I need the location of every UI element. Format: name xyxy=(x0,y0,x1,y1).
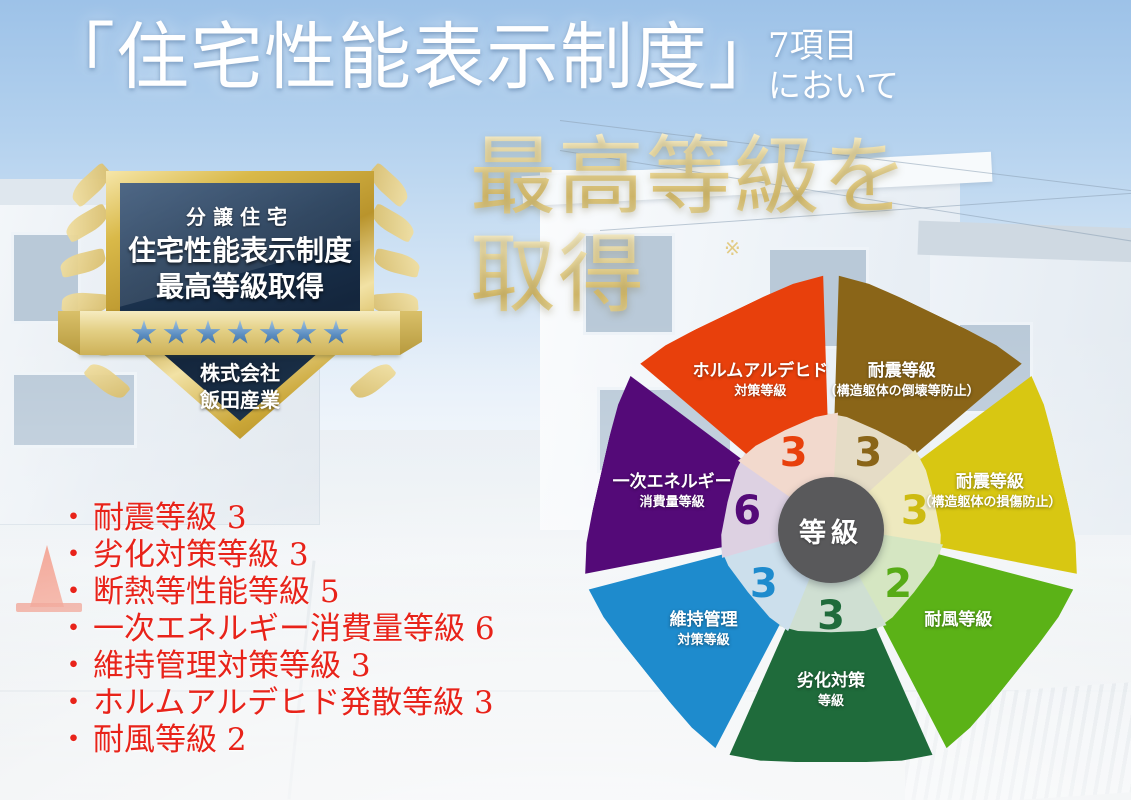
headline-side: 7項目 において xyxy=(768,26,938,106)
wheel-segment-label-main: 一次エネルギー xyxy=(613,472,732,491)
badge-title-line2: 最高等級取得 xyxy=(110,265,370,305)
badge-company-line1: 株式会社 xyxy=(110,361,370,388)
feature-item: ・耐風等級 2 xyxy=(58,722,578,759)
gold-headline-note: ※ xyxy=(724,236,741,261)
wheel-segment-grade: 3 xyxy=(840,433,896,473)
wheel-segment-label-main: 維持管理 xyxy=(670,610,738,629)
star-icon xyxy=(291,320,317,346)
wheel-center-label: 等級 xyxy=(799,511,863,550)
wheel-segment-grade: 6 xyxy=(719,491,775,531)
star-icon xyxy=(259,320,285,346)
wheel-segment-label-main: 劣化対策 xyxy=(797,671,865,690)
wheel-center-hub: 等級 xyxy=(778,477,884,583)
feature-item-label: 一次エネルギー消費量等級 6 xyxy=(93,611,495,647)
feature-item-label: ホルムアルデヒド発散等級 3 xyxy=(93,685,494,721)
wheel-segment-label-sub: 対策等級 xyxy=(594,631,814,649)
feature-item-label: 維持管理対策等級 3 xyxy=(93,648,371,684)
wheel-segment-label: 劣化対策等級 xyxy=(721,669,941,710)
badge-title-line1: 住宅性能表示制度 xyxy=(110,229,370,269)
feature-item-label: 耐風等級 2 xyxy=(93,722,247,758)
feature-list: ・耐震等級 3・劣化対策等級 3・断熱等性能等級 5・一次エネルギー消費量等級 … xyxy=(58,500,578,759)
star-icon xyxy=(323,320,349,346)
bullet-icon: ・ xyxy=(58,722,89,758)
star-icon xyxy=(131,320,157,346)
feature-item: ・耐震等級 3 xyxy=(58,500,578,537)
bullet-icon: ・ xyxy=(58,611,89,647)
badge-company: 株式会社 飯田産業 xyxy=(110,361,370,415)
wheel-segment-label-main: 耐震等級 xyxy=(868,361,936,380)
star-icon xyxy=(195,320,221,346)
badge-company-line2: 飯田産業 xyxy=(110,388,370,415)
page-title: 「住宅性能表示制度」 7項目 において xyxy=(42,10,942,120)
wheel-segment-grade: 3 xyxy=(887,491,943,531)
bullet-icon: ・ xyxy=(58,574,89,610)
feature-item: ・ホルムアルデヒド発散等級 3 xyxy=(58,685,578,722)
wheel-segment-grade: 3 xyxy=(736,564,792,604)
wheel-segment-label-main: 耐風等級 xyxy=(924,610,992,629)
feature-item: ・断熱等性能等級 5 xyxy=(58,574,578,611)
wheel-segment-label-sub: 等級 xyxy=(721,692,941,710)
star-icon xyxy=(227,320,253,346)
star-icon xyxy=(163,320,189,346)
performance-wheel-chart: 耐震等級（構造躯体の倒壊等防止）3耐震等級（構造躯体の損傷防止）3耐風等級2劣化… xyxy=(566,280,1096,780)
wheel-segment-grade: 3 xyxy=(766,433,822,473)
badge-star-rating xyxy=(80,313,400,353)
headline-side-line1: 7項目 xyxy=(768,26,938,66)
bullet-icon: ・ xyxy=(58,500,89,536)
feature-item-label: 断熱等性能等級 5 xyxy=(93,574,340,610)
badge-top-label: 分譲住宅 xyxy=(120,201,360,230)
feature-item: ・劣化対策等級 3 xyxy=(58,537,578,574)
feature-item: ・一次エネルギー消費量等級 6 xyxy=(58,611,578,648)
certification-badge: 分譲住宅 住宅性能表示制度 最高等級取得 株式会社 飯田産業 xyxy=(70,163,410,463)
wheel-segment-label: ホルムアルデヒド対策等級 xyxy=(650,359,870,400)
wheel-segment-grade: 2 xyxy=(870,564,926,604)
wheel-segment-label-sub: 対策等級 xyxy=(650,382,870,400)
feature-item-label: 劣化対策等級 3 xyxy=(93,537,309,573)
bullet-icon: ・ xyxy=(58,648,89,684)
bullet-icon: ・ xyxy=(58,537,89,573)
feature-item: ・維持管理対策等級 3 xyxy=(58,648,578,685)
wheel-segment-label-main: 耐震等級 xyxy=(956,472,1024,491)
wheel-segment-label-main: ホルムアルデヒド xyxy=(693,361,829,380)
bullet-icon: ・ xyxy=(58,685,89,721)
headline-side-line2: において xyxy=(768,66,938,106)
feature-item-label: 耐震等級 3 xyxy=(93,500,247,536)
gold-headline-line1: 最高等級を xyxy=(470,128,940,226)
wheel-segment-label: 維持管理対策等級 xyxy=(594,608,814,649)
